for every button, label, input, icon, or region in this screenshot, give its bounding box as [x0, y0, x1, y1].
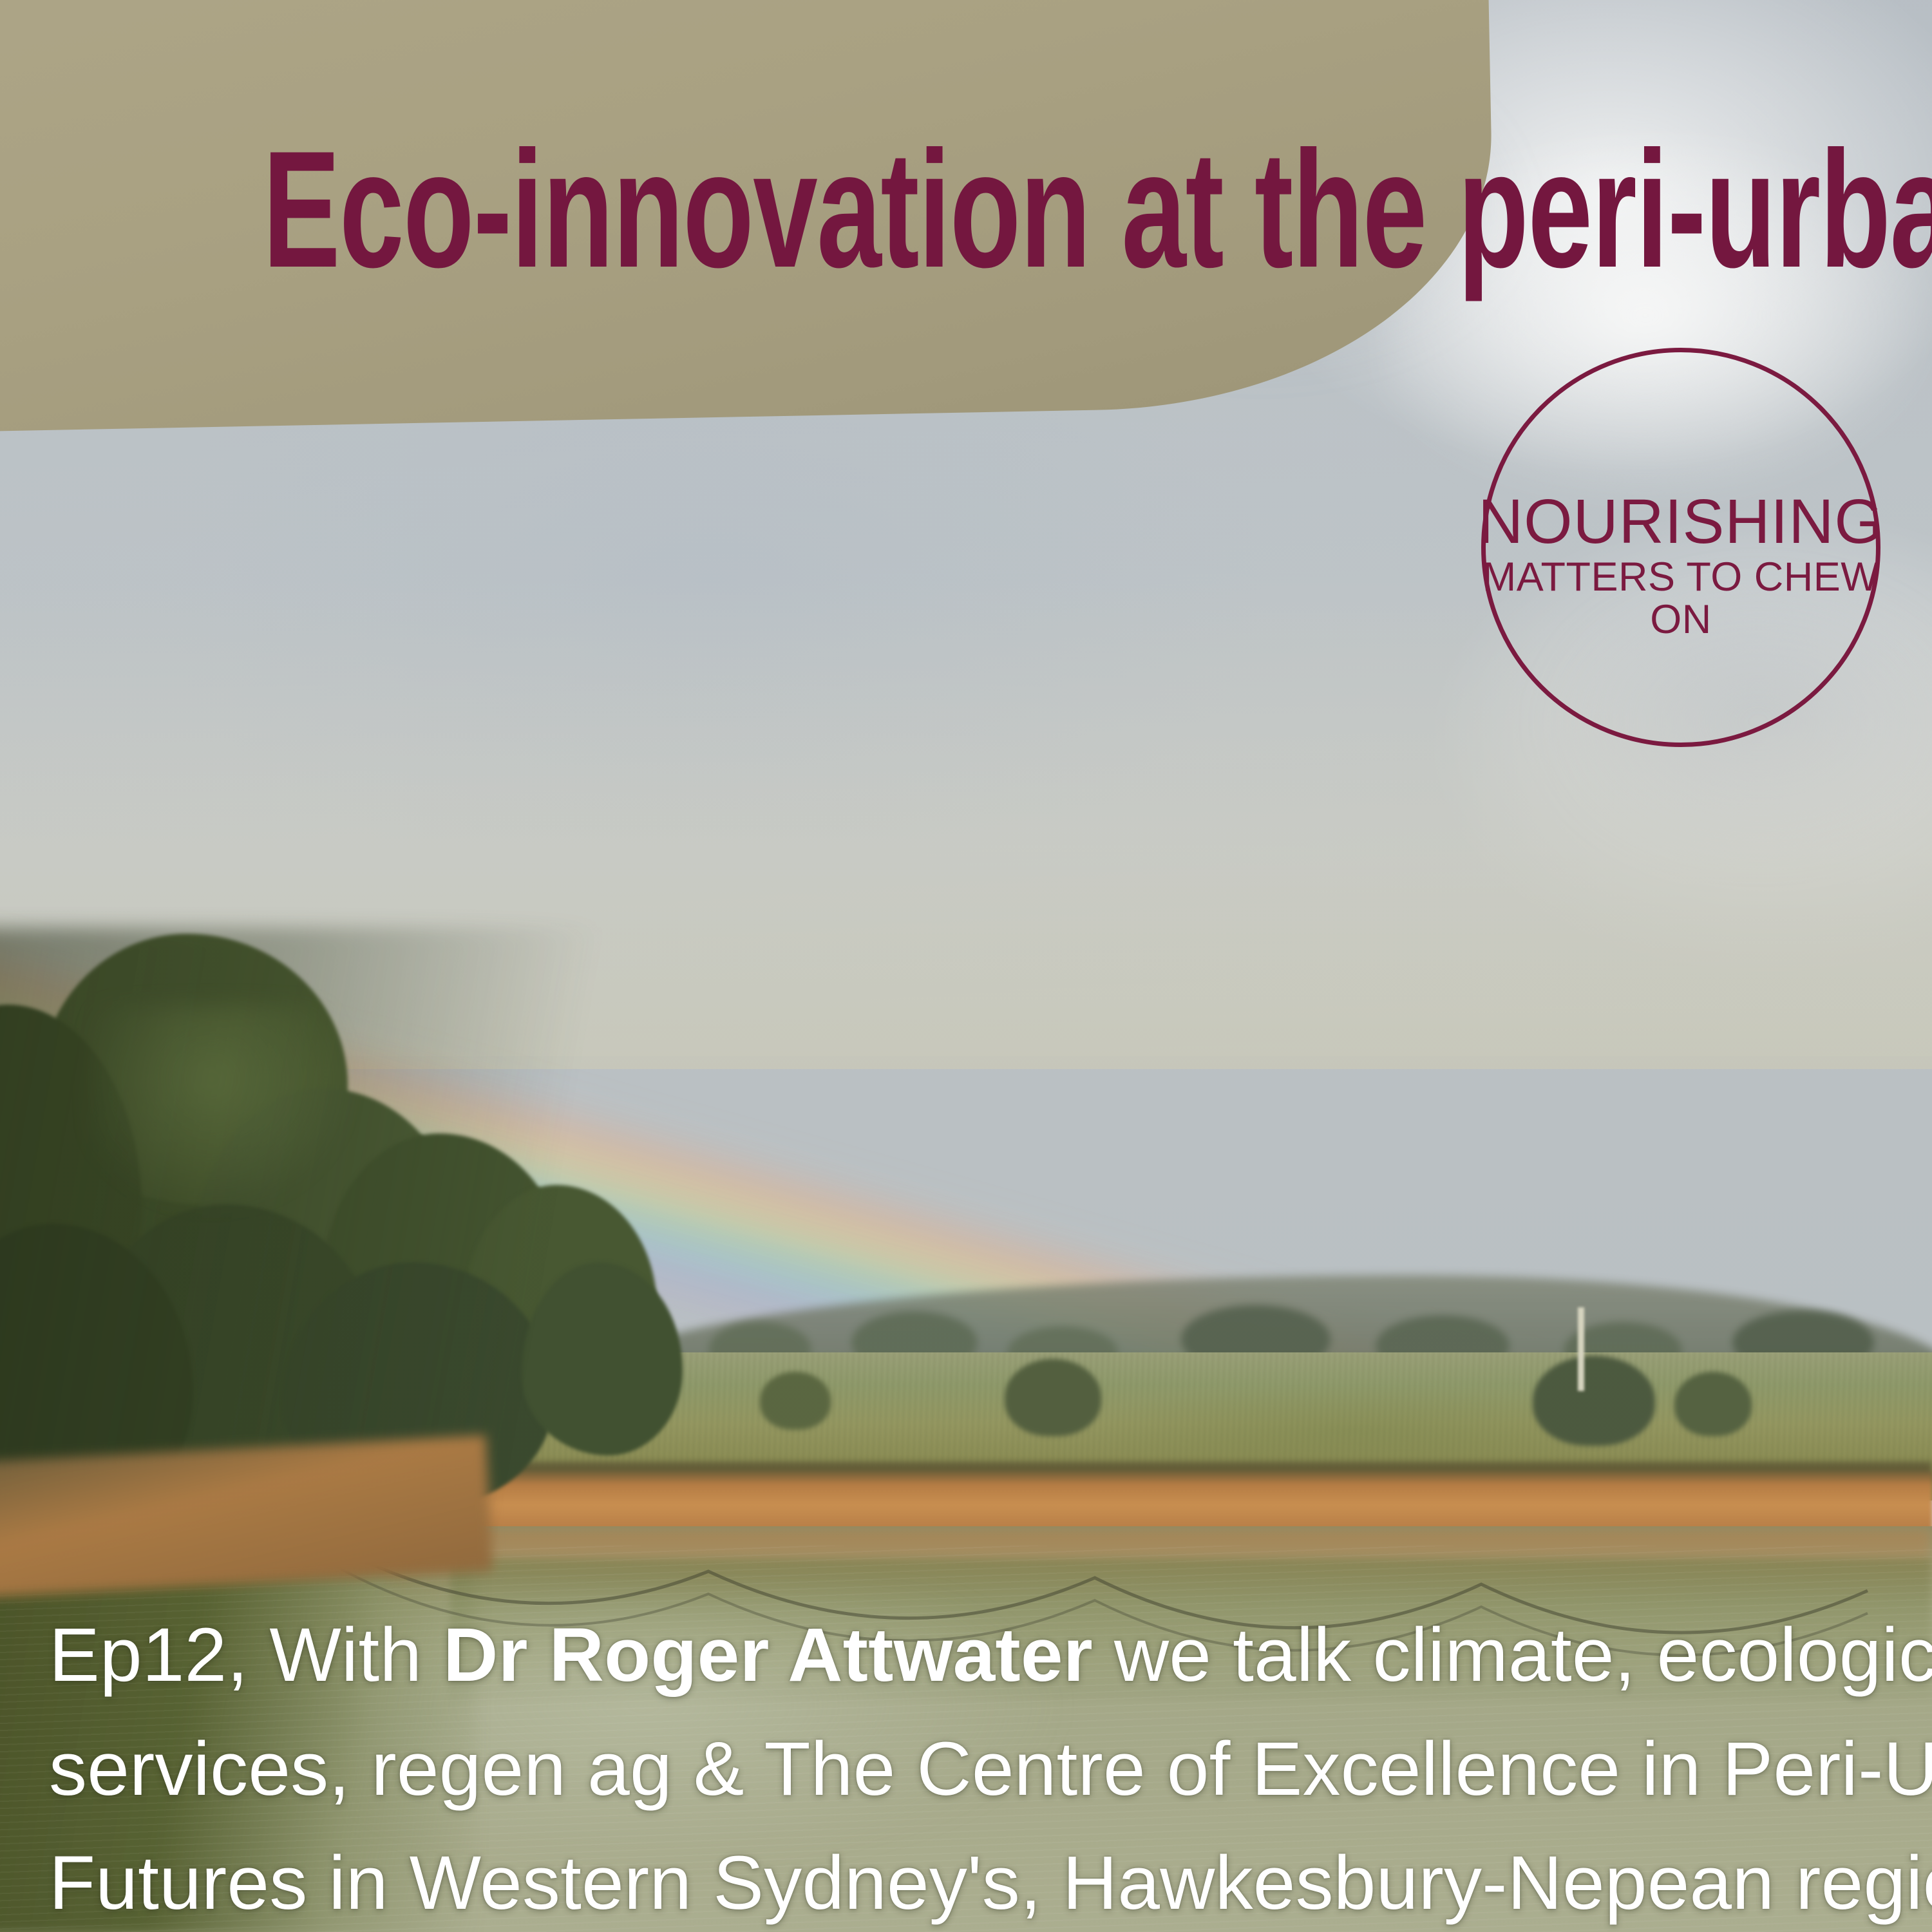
tree-highlight	[90, 1005, 361, 1217]
podcast-cover: Eco-innovation at the peri-urban edge NO…	[0, 0, 1932, 1932]
logo-tagline-text: MATTERS TO CHEW ON	[1448, 556, 1914, 641]
paddock-post	[1578, 1307, 1584, 1391]
page-title: Eco-innovation at the peri-urban edge	[263, 126, 1489, 292]
caption-line-1: Ep12, With Dr Roger Attwater we talk cli…	[49, 1598, 1891, 1712]
paddock-shrub	[1533, 1356, 1655, 1446]
caption-line1-pre: Ep12, With	[49, 1613, 443, 1698]
logo-wordmark: NOURISHING MATTERS TO CHEW ON	[1448, 491, 1914, 641]
logo-primary-text: NOURISHING	[1448, 491, 1914, 552]
episode-caption: Ep12, With Dr Roger Attwater we talk cli…	[49, 1598, 1891, 1932]
caption-line-2: services, regen ag & The Centre of Excel…	[49, 1712, 1891, 1826]
paddock-shrub	[760, 1372, 831, 1430]
brand-logo[interactable]: NOURISHING MATTERS TO CHEW ON	[1481, 348, 1880, 747]
left-shoreline	[0, 1435, 493, 1598]
caption-line1-post: we talk climate, ecological	[1093, 1613, 1932, 1698]
caption-line-3: Futures in Western Sydney's, Hawkesbury-…	[49, 1826, 1891, 1932]
paddock-shrub	[1005, 1359, 1101, 1436]
guest-name: Dr Roger Attwater	[443, 1613, 1093, 1698]
paddock-shrub	[1674, 1372, 1752, 1436]
